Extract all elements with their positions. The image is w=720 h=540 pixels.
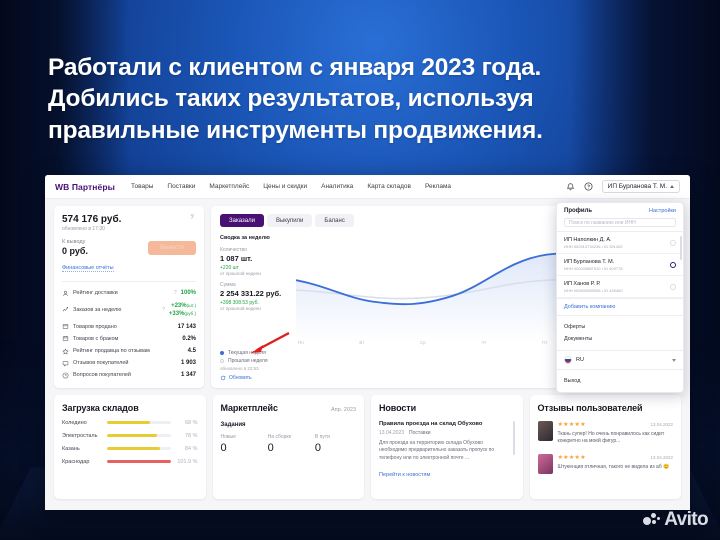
box-icon [62, 323, 69, 330]
chart-summary: Сводка за неделю Количество 1 087 шт. +2… [220, 235, 288, 343]
bottom-cards-row: Загрузка складов Коледино 68 % Электрост… [45, 388, 690, 499]
metric-label: Товаров продано [73, 324, 174, 330]
metric-items-sold: Товаров продано 17 143 [62, 321, 196, 333]
user-icon [62, 290, 69, 297]
column-value: 0 [221, 442, 262, 454]
help-icon[interactable]: ? [174, 290, 177, 296]
account-list: ИП Наполкин Д. А. ИНН 502913734236 • ID … [557, 231, 683, 298]
radio-icon[interactable] [670, 284, 676, 290]
question-icon [62, 372, 69, 379]
account-item[interactable]: ИП Наполкин Д. А. ИНН 502913734236 • ID … [557, 232, 683, 254]
headline-line-3: правильные инструменты продвижения. [48, 115, 678, 146]
warehouse-value: 78 % [176, 433, 198, 439]
metric-label: Рейтинг продавца по отзывам [73, 348, 184, 354]
column-value: 0 [268, 442, 309, 454]
quantity-label: Количество [220, 247, 288, 253]
help-icon[interactable] [584, 182, 593, 191]
review-body: ★★★★★ 13.04.2022 Ткань супер! Но очень п… [558, 421, 674, 446]
warehouse-load-card: Загрузка складов Коледино 68 % Электрост… [54, 395, 206, 499]
warehouse-bar-fill [107, 447, 160, 450]
sum-label: Сумма [220, 282, 288, 288]
warehouse-bar-fill [107, 421, 150, 424]
brand-logo[interactable]: WB Партнёры [55, 182, 115, 192]
account-text: ИП Наполкин Д. А. ИНН 502913734236 • ID … [564, 237, 665, 249]
sum-delta-note: от прошлой недели [220, 306, 288, 311]
warehouse-title: Загрузка складов [62, 403, 198, 413]
language-selector[interactable]: RU [557, 350, 683, 369]
warehouse-name: Электросталь [62, 433, 102, 439]
marketplace-header: Маркетплейс Апр. 2023 [221, 403, 357, 413]
finance-header: 574 176 руб. обновлено в 17:30 ? [62, 214, 196, 232]
metric-label: Товаров с браком [73, 336, 178, 342]
column-label: В пути [315, 434, 356, 440]
review-thumbnail [538, 454, 553, 474]
metric-questions-count: Вопросов покупателей 1 347 [62, 369, 196, 381]
dashboard-window: WB Партнёры Товары Поставки Маркетплейс … [45, 175, 690, 510]
metric-value: 1 347 [181, 372, 196, 378]
headline-line-1: Работали с клиентом с января 2023 года. [48, 52, 678, 83]
metric-label: Вопросов покупателей [73, 372, 177, 378]
metric-reviews-count: Отзывов покупателей 1 903 [62, 357, 196, 369]
account-switcher[interactable]: ИП Бурланова Т. М. [602, 180, 680, 193]
news-item-date: 13.04.2023 [379, 430, 404, 436]
flag-ru-icon [564, 356, 572, 364]
account-name: ИП Ханов Р. Р. [564, 281, 665, 287]
account-meta: ИНН 420026887510 • ID 409778 [564, 266, 665, 271]
news-item-body: Для проезда на территорию склада Обухово… [379, 440, 510, 463]
annotation-arrow-icon [247, 330, 291, 356]
star-icon [62, 348, 69, 355]
metric-value: 4.5 [188, 348, 196, 354]
quantity-value: 1 087 шт. [220, 254, 288, 263]
review-date: 13.04.2022 [650, 422, 673, 427]
review-thumbnail [538, 421, 553, 441]
account-text: ИП Ханов Р. Р. ИНН 002600055056 • ID 435… [564, 281, 665, 293]
news-item-title: Правила проезда на склад Обухово [379, 421, 510, 427]
account-search-input[interactable]: Поиск по названию или ИНН [564, 218, 676, 227]
nav-item-ceny-i-skidki[interactable]: Цены и скидки [263, 183, 307, 190]
metric-label: Отзывов покупателей [73, 360, 177, 366]
column-label: Новые [221, 434, 262, 440]
nav-item-marketplace[interactable]: Маркетплейс [209, 183, 249, 190]
balance-amount: 574 176 руб. [62, 214, 121, 225]
add-company-section: Добавить компанию [557, 298, 683, 315]
news-item[interactable]: Правила проезда на склад Обухово 13.04.2… [379, 421, 515, 463]
reviews-title: Отзывы пользователей [538, 403, 674, 413]
bell-icon[interactable] [566, 182, 575, 191]
metric-tabs: Заказали Выкупили Баланс [220, 214, 354, 227]
x-tick-3: Чт [481, 340, 486, 345]
marketplace-subtitle: Задания [221, 422, 357, 428]
metric-label: Рейтинг доставки [73, 290, 168, 296]
marketplace-columns: Новые 0 На сборке 0 В пути 0 [221, 434, 357, 454]
marketplace-date: Апр. 2023 [331, 407, 356, 413]
metric-seller-rating: Рейтинг продавца по отзывам 4.5 [62, 345, 196, 357]
review-header: ★★★★★ 13.04.2022 [558, 421, 674, 428]
warehouse-bar [107, 447, 171, 450]
review-item[interactable]: ★★★★★ 13.04.2022 Штукенция отличная, так… [538, 454, 674, 474]
marketplace-column-new[interactable]: Новые 0 [221, 434, 262, 454]
withdraw-row: К выводу 0 руб. Вывести [62, 239, 196, 256]
star-rating-icon: ★★★★★ [558, 454, 586, 461]
account-list-scrollbar[interactable] [680, 236, 682, 260]
column-label: На сборке [268, 434, 309, 440]
news-item-tag: Поставки [409, 430, 431, 436]
warehouse-value: 84 % [176, 446, 198, 452]
nav-item-analitika[interactable]: Аналитика [321, 183, 353, 190]
warehouse-bar [107, 421, 171, 424]
warehouse-bar-fill [107, 460, 171, 463]
chevron-up-icon [670, 185, 674, 188]
question-icon[interactable]: ? [188, 214, 196, 222]
nav-item-tovary[interactable]: Товары [131, 183, 153, 190]
nav-item-postavki[interactable]: Поставки [167, 183, 195, 190]
sum-value: 2 254 331.22 руб. [220, 289, 288, 298]
warehouse-row: Коледино 68 % [62, 420, 198, 426]
metrics-list: Рейтинг доставки ? 100% Заказов за недел… [62, 281, 196, 382]
refresh-icon [220, 375, 226, 381]
documents-link[interactable]: Документы [564, 333, 676, 345]
add-company-link[interactable]: Добавить компанию [564, 304, 676, 310]
review-item[interactable]: ★★★★★ 13.04.2022 Ткань супер! Но очень п… [538, 421, 674, 446]
radio-icon-selected[interactable] [670, 262, 676, 268]
metric-value: 0.2% [182, 336, 196, 342]
x-tick-4: Пт [542, 340, 547, 345]
top-navbar: WB Партнёры Товары Поставки Маркетплейс … [45, 175, 690, 199]
warehouse-name: Казань [62, 446, 102, 452]
finance-card: 574 176 руб. обновлено в 17:30 ? К вывод… [54, 206, 204, 388]
offers-link[interactable]: Оферты [564, 321, 676, 333]
avito-watermark: Avito [643, 509, 708, 531]
metric-unit: (шт.) [187, 303, 196, 308]
warehouse-name: Коледино [62, 420, 102, 426]
financial-reports-link[interactable]: Финансовые отчёты [62, 265, 114, 272]
metric-value: 1 903 [181, 360, 196, 366]
nav-item-karta-skladov[interactable]: Карта складов [367, 183, 411, 190]
news-scrollbar[interactable] [513, 421, 515, 455]
withdraw-amount: 0 руб. [62, 246, 88, 256]
finance-column: 574 176 руб. обновлено в 17:30 ? К вывод… [54, 206, 204, 388]
balance-updated: обновлено в 17:30 [62, 226, 121, 232]
column-value: 0 [315, 442, 356, 454]
withdraw-button[interactable]: Вывести [148, 241, 196, 255]
metric-value: 17 143 [178, 324, 196, 330]
marketplace-column-intransit[interactable]: В пути 0 [315, 434, 356, 454]
logout-link[interactable]: Выход [564, 375, 676, 387]
logout-section: Выход [557, 369, 683, 392]
account-name: ИП Бурланова Т. М. [608, 183, 667, 190]
documents-section: Оферты Документы [557, 315, 683, 350]
radio-icon[interactable] [670, 240, 676, 246]
nav-item-reklama[interactable]: Реклама [425, 183, 451, 190]
comment-icon [62, 360, 69, 367]
reviews-card: Отзывы пользователей ★★★★★ 13.04.2022 Тк… [530, 395, 682, 499]
review-date: 13.04.2022 [650, 455, 673, 460]
warehouse-row: Краснодар 101.9 % [62, 459, 198, 465]
metric-value-rub: +33% [169, 311, 185, 317]
metric-defective-items: Товаров с браком 0.2% [62, 333, 196, 345]
account-name: ИП Бурланова Т. М. [564, 259, 665, 265]
warehouse-bar-fill [107, 434, 157, 437]
avito-wordmark: Avito [664, 509, 708, 531]
quantity-delta-note: от прошлой недели [220, 271, 288, 276]
news-title: Новости [379, 403, 515, 413]
review-text: Ткань супер! Но очень понравилось как си… [558, 431, 674, 446]
tab-vykupili[interactable]: Выкупили [267, 214, 312, 227]
page-title: Работали с клиентом с января 2023 года. … [48, 52, 678, 146]
tab-zakazali[interactable]: Заказали [220, 214, 264, 227]
news-card: Новости Правила проезда на склад Обухово… [371, 395, 523, 499]
trend-icon [62, 306, 69, 313]
account-meta: ИНН 502913734236 • ID 391262 [564, 244, 665, 249]
withdraw-label: К выводу [62, 239, 88, 245]
marketplace-card: Маркетплейс Апр. 2023 Задания Новые 0 На… [213, 395, 365, 499]
star-rating-icon: ★★★★★ [558, 421, 586, 428]
x-tick-1: Вт [359, 340, 364, 345]
calendar-icon [62, 335, 69, 342]
language-label: RU [576, 357, 668, 363]
legend-label-previous: Прошлая неделя [228, 358, 268, 364]
account-meta: ИНН 002600055056 • ID 435450 [564, 288, 665, 293]
dropdown-header: Профиль Настройки [557, 203, 683, 218]
warehouse-row: Электросталь 78 % [62, 433, 198, 439]
metric-value: +23%(шт.) +33%(руб.) [169, 302, 196, 318]
x-tick-2: Ср [420, 340, 426, 345]
review-text: Штукенция отличная, такого не видела из … [558, 464, 674, 472]
metric-weekly-orders: Заказов за неделю ? +23%(шт.) +33%(руб.) [62, 299, 196, 320]
metric-delivery-rating: Рейтинг доставки ? 100% [62, 287, 196, 299]
refresh-label: Обновить [229, 375, 252, 381]
warehouse-row: Казань 84 % [62, 446, 198, 452]
navbar-right: ИП Бурланова Т. М. [566, 180, 680, 193]
legend-dot-previous [220, 359, 224, 363]
legend-dot-current [220, 351, 224, 355]
settings-link[interactable]: Настройки [649, 208, 676, 214]
review-header: ★★★★★ 13.04.2022 [558, 454, 674, 461]
headline-line-2: Добились таких результатов, используя [48, 83, 678, 114]
x-tick-0: Пн [298, 340, 304, 345]
warehouse-name: Краснодар [62, 459, 102, 465]
account-item[interactable]: ИП Бурланова Т. М. ИНН 420026887510 • ID… [557, 254, 683, 276]
account-text: ИП Бурланова Т. М. ИНН 420026887510 • ID… [564, 259, 665, 271]
dropdown-title: Профиль [564, 208, 592, 214]
chevron-down-icon [672, 359, 676, 362]
news-item-meta: 13.04.2023Поставки [379, 430, 510, 436]
metric-value: 100% [181, 290, 196, 296]
slide-stage: Работали с клиентом с января 2023 года. … [0, 0, 720, 540]
warehouse-value: 68 % [176, 420, 198, 426]
marketplace-column-assembling[interactable]: На сборке 0 [268, 434, 309, 454]
metric-label: Заказов за неделю [73, 307, 156, 313]
warehouse-bar [107, 460, 171, 463]
nav-items: Товары Поставки Маркетплейс Цены и скидк… [131, 183, 566, 190]
help-icon[interactable]: ? [162, 307, 165, 313]
news-all-link[interactable]: Перейти к новостям [379, 472, 430, 478]
summary-title: Сводка за неделю [220, 235, 288, 241]
warehouse-bar [107, 434, 171, 437]
review-body: ★★★★★ 13.04.2022 Штукенция отличная, так… [558, 454, 674, 474]
account-item[interactable]: ИП Ханов Р. Р. ИНН 002600055056 • ID 435… [557, 276, 683, 298]
avito-logo-icon [643, 513, 660, 528]
metric-value-units: +23% [171, 303, 187, 309]
profile-dropdown: Профиль Настройки Поиск по названию или … [556, 202, 684, 393]
account-name: ИП Наполкин Д. А. [564, 237, 665, 243]
metric-unit-rub: (руб.) [184, 311, 196, 316]
warehouse-value: 101.9 % [176, 459, 198, 465]
marketplace-title: Маркетплейс [221, 403, 278, 413]
tab-balans[interactable]: Баланс [315, 214, 353, 227]
